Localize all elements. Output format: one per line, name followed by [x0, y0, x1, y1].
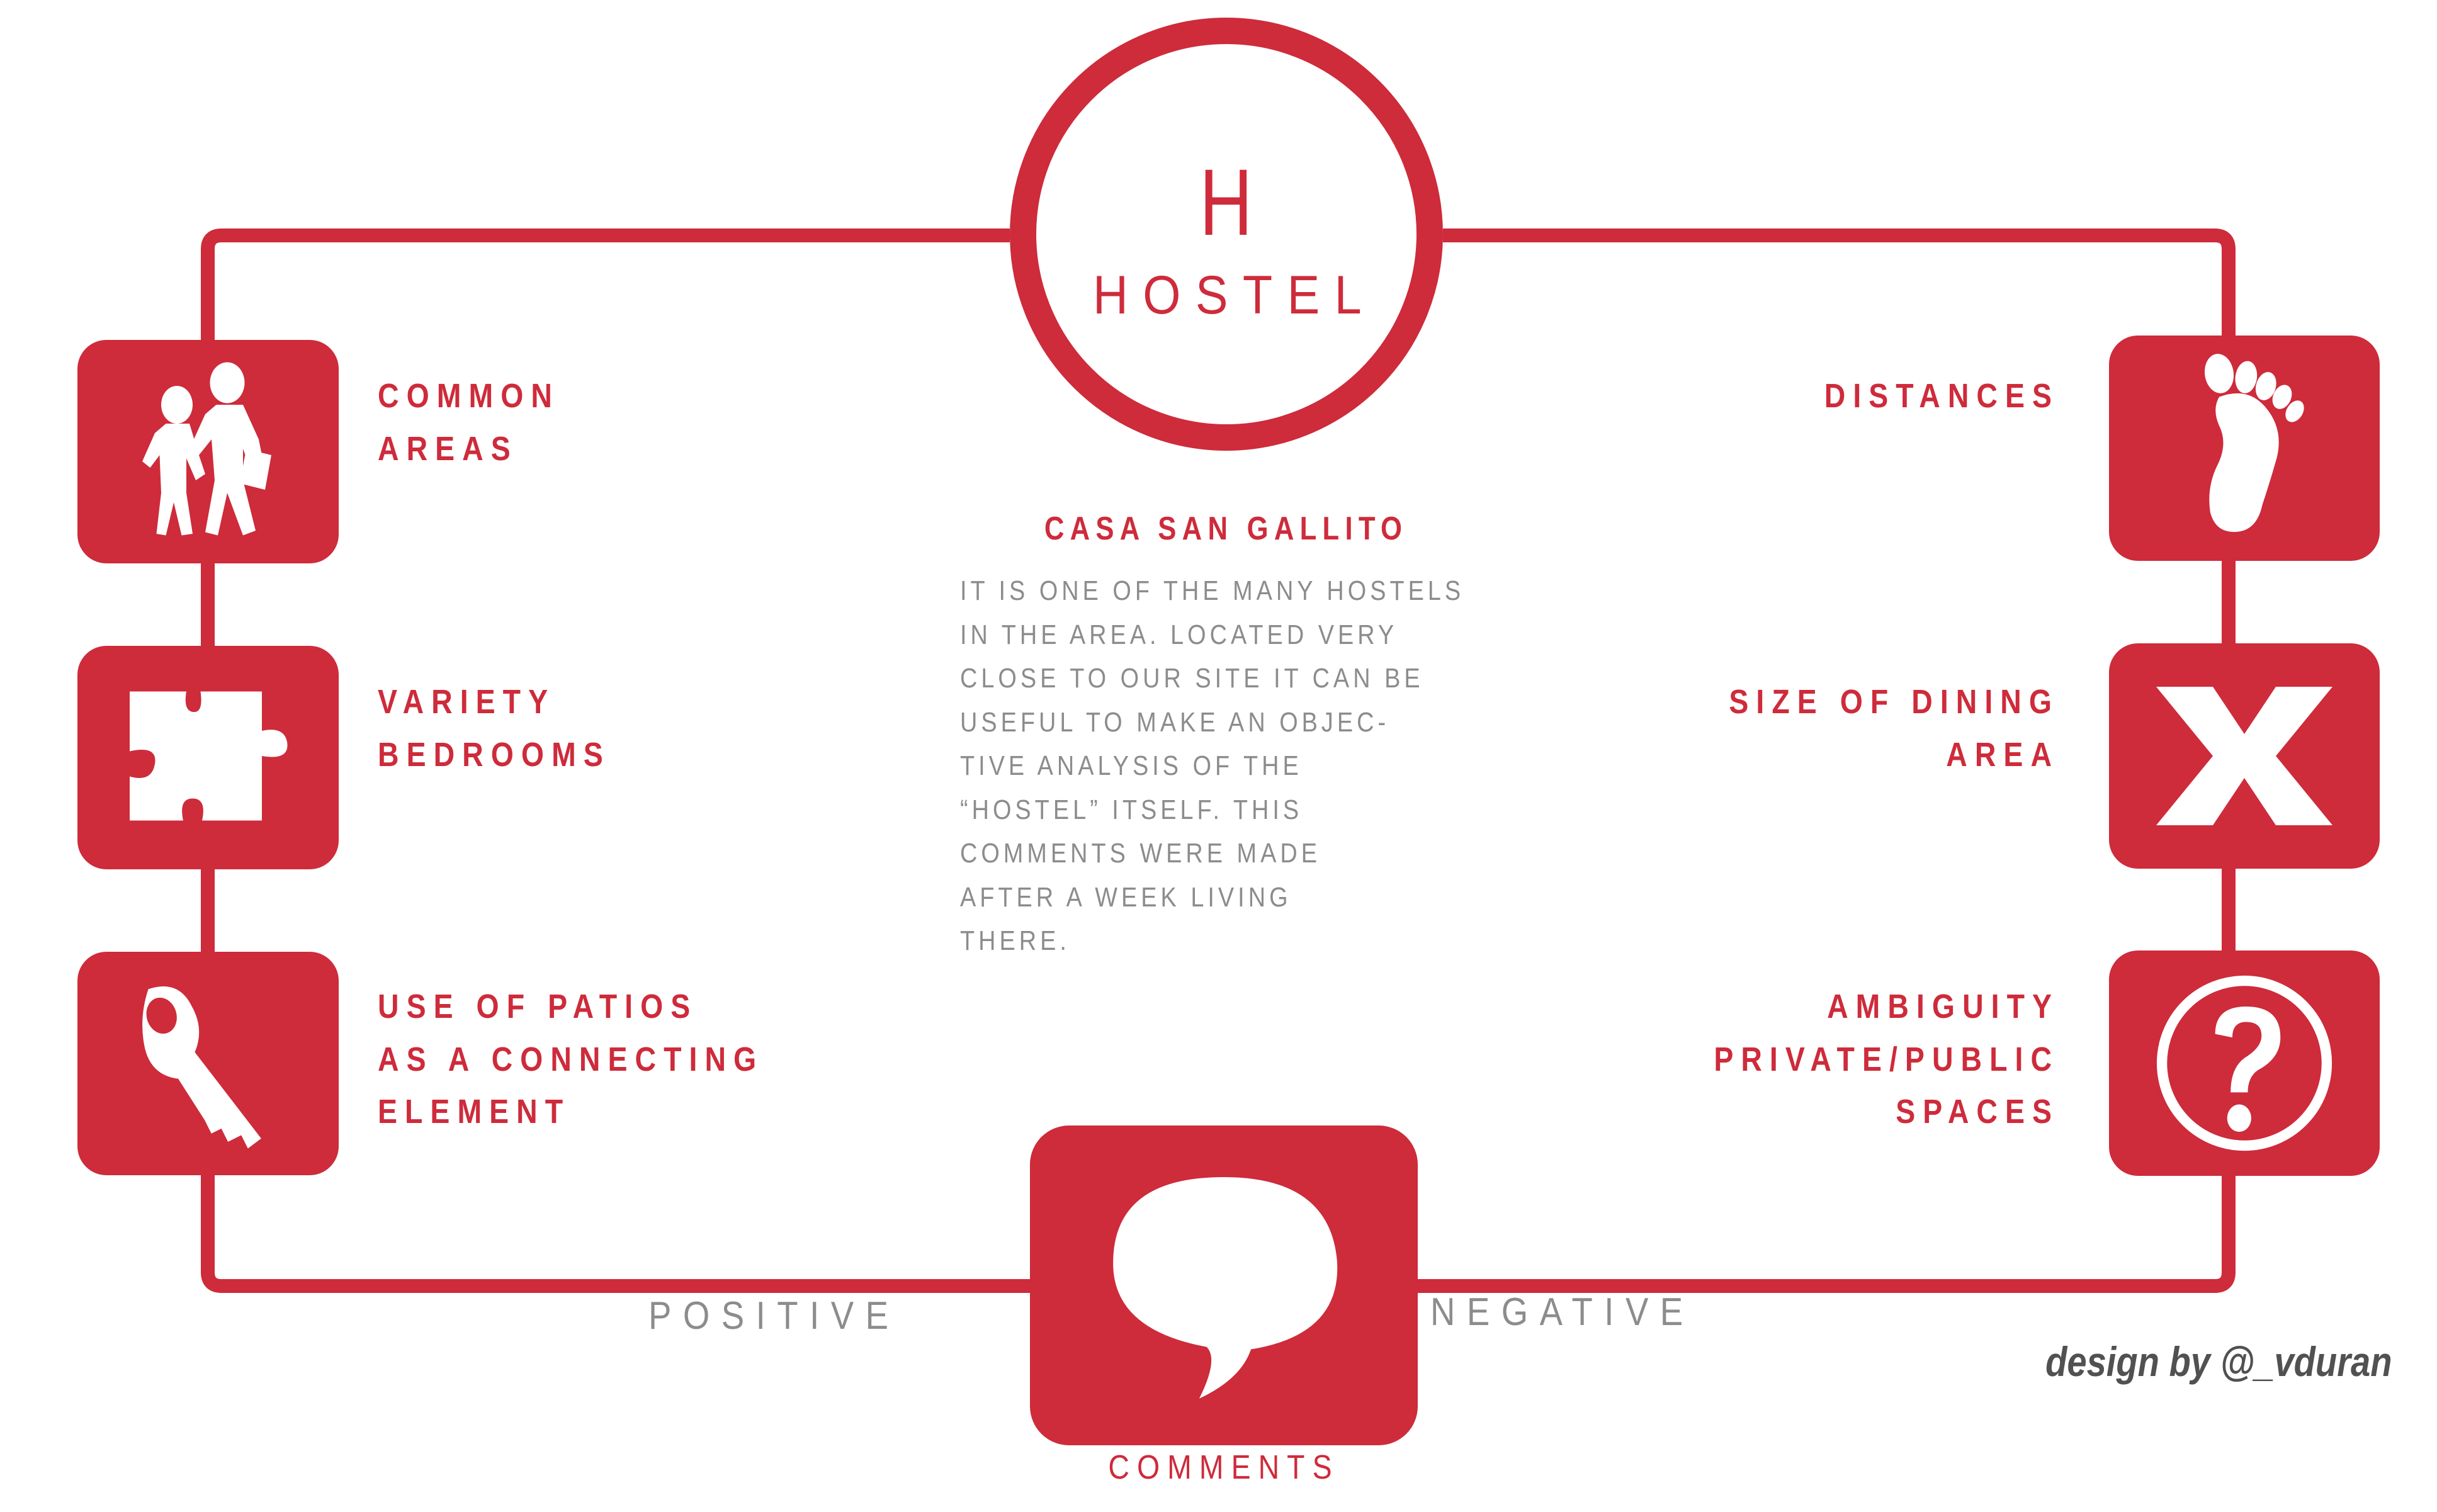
- positive-item-1-label: COMMON AREAS: [378, 370, 560, 475]
- hostel-name: CASA SAN GALLITO: [1003, 510, 1450, 548]
- description-line: AFTER A WEEK LIVING: [960, 876, 1491, 920]
- description-block: CASA SAN GALLITO IT IS ONE OF THE MANY H…: [960, 510, 1492, 963]
- positive-group-label: POSITIVE: [648, 1294, 900, 1338]
- question-mark-circle-icon: [2150, 972, 2339, 1154]
- description-line: USEFUL TO MAKE AN OBJEC-: [960, 701, 1491, 745]
- description-line: IN THE AREA. LOCATED VERY: [960, 613, 1491, 657]
- comments-icon-box[interactable]: [1030, 1126, 1418, 1445]
- logo-monogram: H: [1199, 155, 1253, 249]
- footprint-icon: [2172, 354, 2317, 543]
- negative-item-2-icon-box[interactable]: [2109, 643, 2380, 869]
- description-line: COMMENTS WERE MADE: [960, 832, 1491, 876]
- description-line: CLOSE TO OUR SITE IT CAN BE: [960, 657, 1491, 701]
- positive-item-3-icon-box[interactable]: [77, 952, 339, 1175]
- positive-item-3-label: USE OF PATIOS AS A CONNECTING ELEMENT: [378, 981, 764, 1139]
- description-line: TIVE ANALYSIS OF THE: [960, 744, 1491, 788]
- comments-label: COMMENTS: [1057, 1448, 1391, 1487]
- logo-wordmark: HOSTEL: [1093, 264, 1376, 327]
- speech-bubble-icon: [1088, 1159, 1359, 1411]
- infographic-canvas: H HOSTEL CASA SAN GALLITO IT IS ONE OF T…: [0, 0, 2437, 1512]
- designer-credit: design by @_vduran: [2045, 1338, 2392, 1385]
- positive-item-1-icon-box[interactable]: [77, 340, 339, 563]
- puzzle-piece-icon: [114, 677, 303, 838]
- x-mark-icon: [2150, 677, 2339, 835]
- negative-item-3-label: AMBIGUITY PRIVATE/PUBLIC SPACES: [1714, 981, 2059, 1139]
- negative-item-1-icon-box[interactable]: [2109, 336, 2380, 561]
- description-line: THERE.: [960, 919, 1491, 963]
- description-text: IT IS ONE OF THE MANY HOSTELS IN THE ARE…: [960, 569, 1491, 963]
- positive-item-2-label: VARIETY BEDROOMS: [378, 676, 611, 781]
- pedestrians-icon: [130, 358, 287, 546]
- negative-group-label: NEGATIVE: [1430, 1290, 1695, 1334]
- negative-item-2-label: SIZE OF DINING AREA: [1729, 676, 2059, 781]
- key-icon: [125, 973, 291, 1155]
- hostel-logo: H HOSTEL: [1010, 18, 1443, 451]
- description-line: IT IS ONE OF THE MANY HOSTELS: [960, 569, 1491, 613]
- positive-item-2-icon-box[interactable]: [77, 646, 339, 869]
- negative-item-3-icon-box[interactable]: [2109, 951, 2380, 1176]
- description-line: “HOSTEL” ITSELF. THIS: [960, 788, 1491, 832]
- negative-item-1-label: DISTANCES: [1824, 370, 2059, 423]
